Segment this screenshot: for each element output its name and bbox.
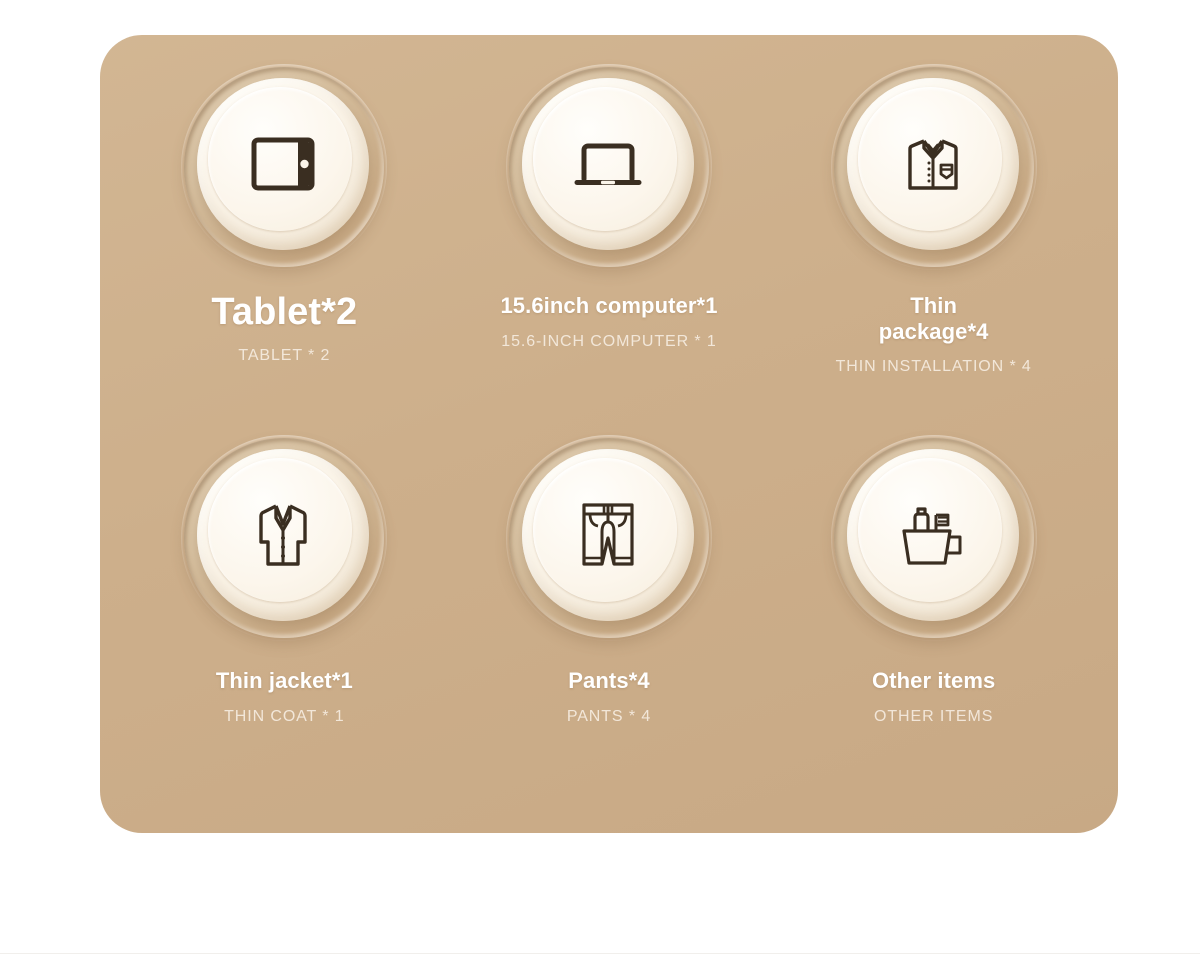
item-secondary-label: TABLET * 2	[122, 347, 447, 365]
item-secondary-label: 15.6-INCH COMPUTER * 1	[447, 333, 772, 351]
item-plate-face	[522, 78, 694, 250]
item-primary-label: Tablet*2	[122, 293, 447, 333]
packing-items-grid: Tablet*2 TABLET * 2 15.6inch	[100, 35, 1118, 833]
item-secondary-label: PANTS * 4	[447, 708, 772, 726]
item-secondary-label: THIN INSTALLATION * 4	[771, 358, 1096, 376]
tablet-icon	[242, 123, 324, 205]
item-primary-label: Thin package*4	[869, 293, 999, 344]
packing-item-tablet[interactable]: Tablet*2 TABLET * 2	[122, 67, 447, 438]
packing-item-thin-package[interactable]: Thin package*4 THIN INSTALLATION * 4	[771, 67, 1096, 438]
item-labels: Thin package*4 THIN INSTALLATION * 4	[771, 293, 1096, 376]
item-secondary-label: OTHER ITEMS	[771, 708, 1096, 726]
page-bottom-divider	[0, 953, 1200, 954]
item-plate	[509, 438, 709, 638]
item-secondary-label: THIN COAT * 1	[122, 708, 447, 726]
item-labels: Pants*4 PANTS * 4	[447, 668, 772, 726]
item-primary-label: Other items	[771, 668, 1096, 694]
packing-item-thin-jacket[interactable]: Thin jacket*1 THIN COAT * 1	[122, 438, 447, 809]
item-labels: Other items OTHER ITEMS	[771, 668, 1096, 726]
jacket-icon	[242, 494, 324, 576]
item-plate-face	[847, 449, 1019, 621]
item-labels: Thin jacket*1 THIN COAT * 1	[122, 668, 447, 726]
item-labels: 15.6inch computer*1 15.6-INCH COMPUTER *…	[447, 293, 772, 351]
item-labels: Tablet*2 TABLET * 2	[122, 293, 447, 365]
item-plate-face	[197, 78, 369, 250]
item-primary-label: 15.6inch computer*1	[447, 293, 772, 319]
packing-list-panel: Tablet*2 TABLET * 2 15.6inch	[100, 35, 1118, 833]
folded-shirt-icon	[892, 123, 974, 205]
item-plate-face	[522, 449, 694, 621]
item-plate	[834, 438, 1034, 638]
toiletries-cup-icon	[892, 494, 974, 576]
packing-item-computer[interactable]: 15.6inch computer*1 15.6-INCH COMPUTER *…	[447, 67, 772, 438]
item-plate	[184, 438, 384, 638]
item-plate-face	[847, 78, 1019, 250]
item-plate	[834, 67, 1034, 267]
item-plate-face	[197, 449, 369, 621]
packing-item-pants[interactable]: Pants*4 PANTS * 4	[447, 438, 772, 809]
item-primary-label: Thin jacket*1	[122, 668, 447, 694]
packing-item-other-items[interactable]: Other items OTHER ITEMS	[771, 438, 1096, 809]
item-primary-label: Pants*4	[447, 668, 772, 694]
item-plate	[184, 67, 384, 267]
item-plate	[509, 67, 709, 267]
laptop-icon	[567, 123, 649, 205]
pants-icon	[567, 494, 649, 576]
